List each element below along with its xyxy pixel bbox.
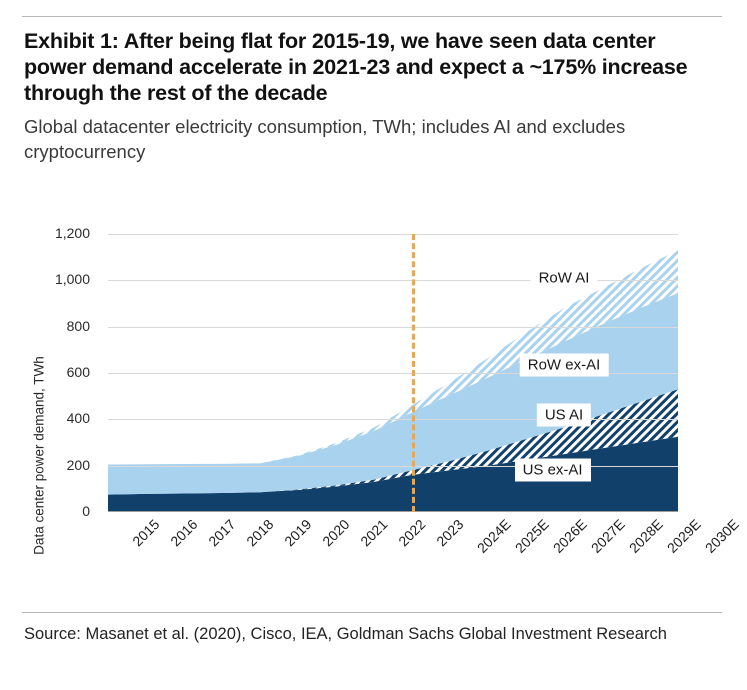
series-label-us-ai: US AI bbox=[537, 403, 591, 426]
page-subtitle: Global datacenter electricity consumptio… bbox=[24, 114, 704, 164]
x-tick-label: 2018 bbox=[243, 516, 276, 549]
x-tick-label: 2021 bbox=[357, 516, 390, 549]
gridline bbox=[108, 234, 678, 235]
source-note: Source: Masanet et al. (2020), Cisco, IE… bbox=[24, 622, 724, 646]
x-tick-label: 2029E bbox=[664, 516, 704, 556]
series-label-us-ex-ai: US ex-AI bbox=[515, 459, 591, 482]
y-tick-label: 200 bbox=[34, 457, 90, 473]
x-axis-ticks: 2015201620172018201920202021202220232024… bbox=[108, 516, 708, 596]
x-tick-label: 2030E bbox=[702, 516, 742, 556]
x-tick-label: 2026E bbox=[550, 516, 590, 556]
x-tick-label: 2022 bbox=[395, 516, 428, 549]
x-tick-label: 2017 bbox=[205, 516, 238, 549]
x-tick-label: 2025E bbox=[512, 516, 552, 556]
plot-region: RoW AIRoW ex-AIUS AIUS ex-AI bbox=[108, 234, 678, 512]
y-tick-label: 600 bbox=[34, 364, 90, 380]
gridline bbox=[108, 466, 678, 467]
series-label-row-ai: RoW AI bbox=[531, 267, 598, 290]
x-tick-label: 2019 bbox=[281, 516, 314, 549]
x-tick-label: 2016 bbox=[167, 516, 200, 549]
series-label-row-ex-ai: RoW ex-AI bbox=[520, 353, 609, 376]
x-axis-line bbox=[108, 511, 678, 512]
y-tick-label: 800 bbox=[34, 318, 90, 334]
bottom-divider bbox=[22, 612, 722, 613]
exhibit-page: Exhibit 1: After being flat for 2015-19,… bbox=[0, 0, 747, 690]
chart-area: Data center power demand, TWh 1,2001,000… bbox=[0, 212, 747, 602]
x-tick-label: 2020 bbox=[319, 516, 352, 549]
x-tick-label: 2028E bbox=[626, 516, 666, 556]
gridline bbox=[108, 419, 678, 420]
x-tick-label: 2015 bbox=[129, 516, 162, 549]
y-tick-label: 0 bbox=[34, 503, 90, 519]
x-tick-label: 2023 bbox=[433, 516, 466, 549]
x-tick-label: 2027E bbox=[588, 516, 628, 556]
y-tick-label: 1,000 bbox=[34, 271, 90, 287]
gridline bbox=[108, 327, 678, 328]
x-tick-label: 2024E bbox=[474, 516, 514, 556]
forecast-divider-line bbox=[412, 234, 415, 512]
page-title: Exhibit 1: After being flat for 2015-19,… bbox=[24, 28, 704, 106]
y-tick-label: 1,200 bbox=[34, 225, 90, 241]
y-axis-ticks: 1,2001,0008006004002000 bbox=[34, 212, 90, 602]
y-tick-label: 400 bbox=[34, 410, 90, 426]
top-divider bbox=[22, 16, 722, 17]
